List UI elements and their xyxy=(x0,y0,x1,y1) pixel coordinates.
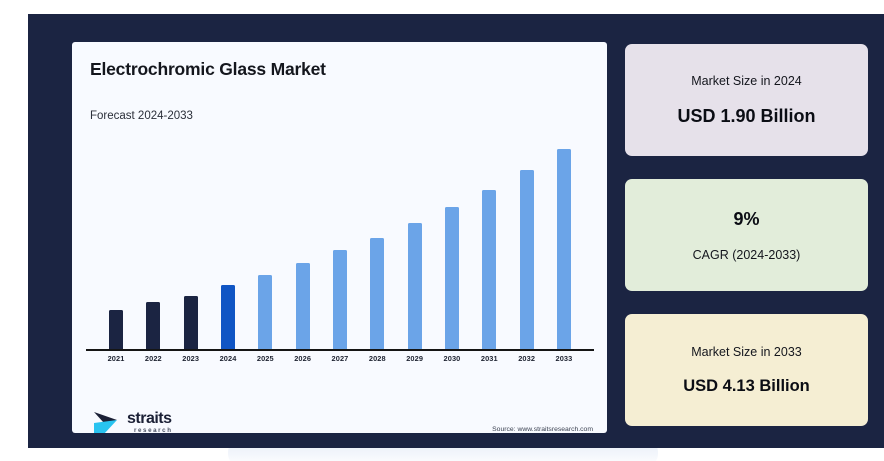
stat-card-value: USD 1.90 Billion xyxy=(677,106,815,127)
x-axis-line xyxy=(86,349,594,351)
x-tick-2021: 2021 xyxy=(98,354,134,363)
bar-2028 xyxy=(370,238,384,349)
straits-research-logo: straits research xyxy=(92,410,173,433)
chart-title: Electrochromic Glass Market xyxy=(90,59,326,80)
stat-card-market-size-2033: Market Size in 2033 USD 4.13 Billion xyxy=(625,314,868,426)
bar-slot xyxy=(546,134,582,349)
bar-slot xyxy=(359,134,395,349)
bar-2021 xyxy=(109,310,123,349)
bar-slot xyxy=(322,134,358,349)
x-tick-2027: 2027 xyxy=(322,354,358,363)
bar-slot xyxy=(210,134,246,349)
x-tick-2032: 2032 xyxy=(509,354,545,363)
bar-2030 xyxy=(445,207,459,349)
x-tick-2025: 2025 xyxy=(247,354,283,363)
stat-card-label: CAGR (2024-2033) xyxy=(693,248,801,262)
page-root: Electrochromic Glass Market Forecast 202… xyxy=(0,0,884,461)
bar-2031 xyxy=(482,190,496,349)
bar-2032 xyxy=(520,170,534,349)
bar-slot xyxy=(397,134,433,349)
bar-2026 xyxy=(296,263,310,349)
chart-subtitle: Forecast 2024-2033 xyxy=(90,110,193,122)
stat-card-cagr: 9% CAGR (2024-2033) xyxy=(625,179,868,291)
logo-text-block: straits research xyxy=(127,411,173,433)
bar-chart-plot xyxy=(90,134,590,349)
bar-slot xyxy=(135,134,171,349)
bar-slot xyxy=(247,134,283,349)
x-tick-2033: 2033 xyxy=(546,354,582,363)
x-tick-2024: 2024 xyxy=(210,354,246,363)
bar-slot xyxy=(173,134,209,349)
bar-slot xyxy=(471,134,507,349)
x-tick-2031: 2031 xyxy=(471,354,507,363)
source-attribution: Source: www.straitsresearch.com xyxy=(492,426,593,433)
bar-series xyxy=(90,134,590,349)
bar-2023 xyxy=(184,296,198,349)
bar-slot xyxy=(434,134,470,349)
stat-card-value: USD 4.13 Billion xyxy=(683,377,810,396)
bar-2033 xyxy=(557,149,571,349)
x-tick-2028: 2028 xyxy=(359,354,395,363)
x-tick-2026: 2026 xyxy=(285,354,321,363)
logo-wordmark: straits xyxy=(127,411,173,427)
x-tick-2029: 2029 xyxy=(397,354,433,363)
stat-card-market-size-2024: Market Size in 2024 USD 1.90 Billion xyxy=(625,44,868,156)
infographic-panel: Electrochromic Glass Market Forecast 202… xyxy=(28,14,884,448)
bar-2027 xyxy=(333,250,347,349)
bar-2024 xyxy=(221,285,235,349)
chart-card: Electrochromic Glass Market Forecast 202… xyxy=(72,42,607,433)
stat-card-label: Market Size in 2033 xyxy=(691,345,801,359)
bar-slot xyxy=(509,134,545,349)
x-tick-2023: 2023 xyxy=(173,354,209,363)
stat-card-value: 9% xyxy=(733,209,759,230)
bar-slot xyxy=(98,134,134,349)
x-tick-2030: 2030 xyxy=(434,354,470,363)
bar-2022 xyxy=(146,302,160,349)
bar-slot xyxy=(285,134,321,349)
x-axis-tick-labels: 2021202220232024202520262027202820292030… xyxy=(90,354,590,363)
logo-subtitle: research xyxy=(134,428,173,433)
bar-2029 xyxy=(408,223,422,349)
bar-2025 xyxy=(258,275,272,349)
stat-card-label: Market Size in 2024 xyxy=(691,74,801,88)
x-tick-2022: 2022 xyxy=(135,354,171,363)
straits-arrow-logo-icon xyxy=(92,410,122,433)
